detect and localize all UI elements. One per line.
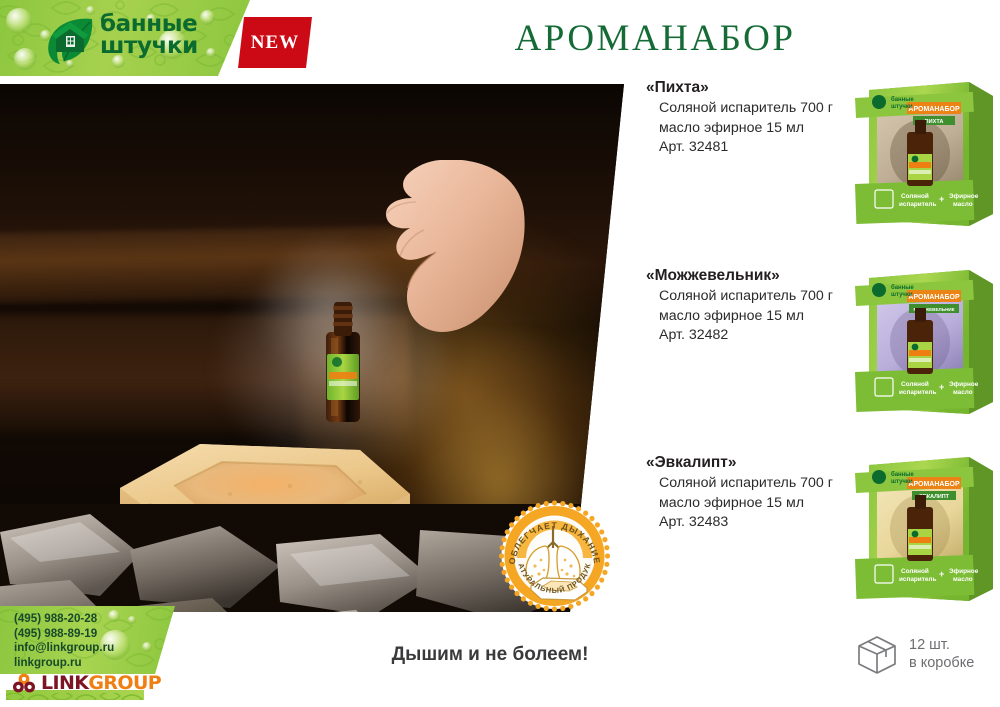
package-footer-left-1: Соляной — [901, 567, 929, 575]
package-aromanabor-label: АРОМАНАБОР — [908, 481, 960, 488]
leaf-pattern-icon — [6, 693, 144, 700]
product-item: «Пихта» Соляной испаритель 700 г масло э… — [646, 78, 1000, 258]
website-url[interactable]: linkgroup.ru — [14, 656, 174, 671]
contact-block: (495) 988-20-28 (495) 988-89-19 info@lin… — [14, 612, 174, 670]
tagline: Дышим и не болеем! — [340, 643, 640, 667]
svg-text:штучки: штучки — [891, 104, 913, 110]
package-aromanabor-label: АРОМАНАБОР — [908, 294, 960, 301]
package-aromanabor-label: АРОМАНАБОР — [908, 106, 960, 113]
package-footer-left-2: испаритель — [899, 201, 936, 208]
quality-seal-badge: ОБЛЕГЧАЕТ ДЫХАНИЕ НАТУРАЛЬНЫЙ ПРОДУКТ — [497, 500, 612, 612]
new-badge: NEW — [238, 17, 312, 68]
product-item: «Эвкалипт» Соляной испаритель 700 г масл… — [646, 453, 1000, 633]
svg-text:банные: банные — [891, 96, 914, 103]
linkgroup-link-text: LINK — [41, 673, 88, 693]
phone-primary[interactable]: (495) 988-20-28 — [14, 612, 174, 627]
package-footer-right-2: масло — [953, 201, 973, 208]
quantity-text: 12 шт. в коробке — [909, 636, 974, 673]
brand-line-1: банные — [100, 13, 226, 35]
svg-text:банные: банные — [891, 471, 914, 478]
box-icon — [855, 632, 899, 676]
bubble-decor — [6, 8, 32, 34]
package-footer-left-2: испаритель — [899, 576, 936, 583]
svg-text:штучки: штучки — [891, 479, 913, 485]
product-package-image: АРОМАНАБОР ПИХТА банные штучки Соляной и… — [851, 72, 1000, 232]
email-address[interactable]: info@linkgroup.ru — [14, 641, 174, 656]
house-leaf-logo-icon — [44, 14, 96, 66]
linkgroup-group-text: GROUP — [88, 673, 161, 693]
package-footer-right-1: Эфирное — [949, 381, 979, 388]
bubble-decor — [14, 48, 36, 70]
linkgroup-logo[interactable]: LINK GROUP — [12, 672, 161, 694]
package-footer-left-1: Соляной — [901, 192, 929, 200]
package-footer-left-2: испаритель — [899, 389, 936, 396]
brand-line-2: штучки — [100, 35, 226, 57]
svg-text:+: + — [939, 382, 944, 392]
package-variant-label: ПИХТА — [925, 119, 944, 125]
brand-logo[interactable]: банные штучки — [44, 10, 224, 68]
hand-holding-bottle — [352, 160, 527, 350]
linkgroup-circles-icon — [12, 673, 36, 693]
essential-oil-bottle — [322, 302, 364, 428]
product-item: «Можжевельник» Соляной испаритель 700 г … — [646, 266, 1000, 446]
quantity-per-box: 12 шт. в коробке — [855, 628, 1000, 680]
quantity-count: 12 шт. — [909, 636, 974, 655]
package-footer-right-1: Эфирное — [949, 193, 979, 200]
quantity-unit: в коробке — [909, 654, 974, 673]
package-footer-left-1: Соляной — [901, 380, 929, 388]
svg-text:+: + — [939, 194, 944, 204]
product-package-image: АРОМАНАБОР ЭВКАЛИПТ банные штучки Соляно… — [851, 447, 1000, 607]
package-footer-right-2: масло — [953, 389, 973, 396]
catalog-page: банные штучки NEW АРОМАНАБОР — [0, 0, 1000, 707]
phone-secondary[interactable]: (495) 988-89-19 — [14, 627, 174, 642]
svg-text:штучки: штучки — [891, 292, 913, 298]
package-footer-right-2: масло — [953, 576, 973, 583]
svg-text:+: + — [939, 569, 944, 579]
package-footer-right-1: Эфирное — [949, 568, 979, 575]
brand-wordmark: банные штучки — [100, 13, 226, 57]
svg-text:банные: банные — [891, 284, 914, 291]
page-title: АРОМАНАБОР — [455, 16, 855, 62]
product-package-image: АРОМАНАБОР МОЖЖЕВЕЛЬНИК банные штучки Со… — [851, 260, 1000, 420]
